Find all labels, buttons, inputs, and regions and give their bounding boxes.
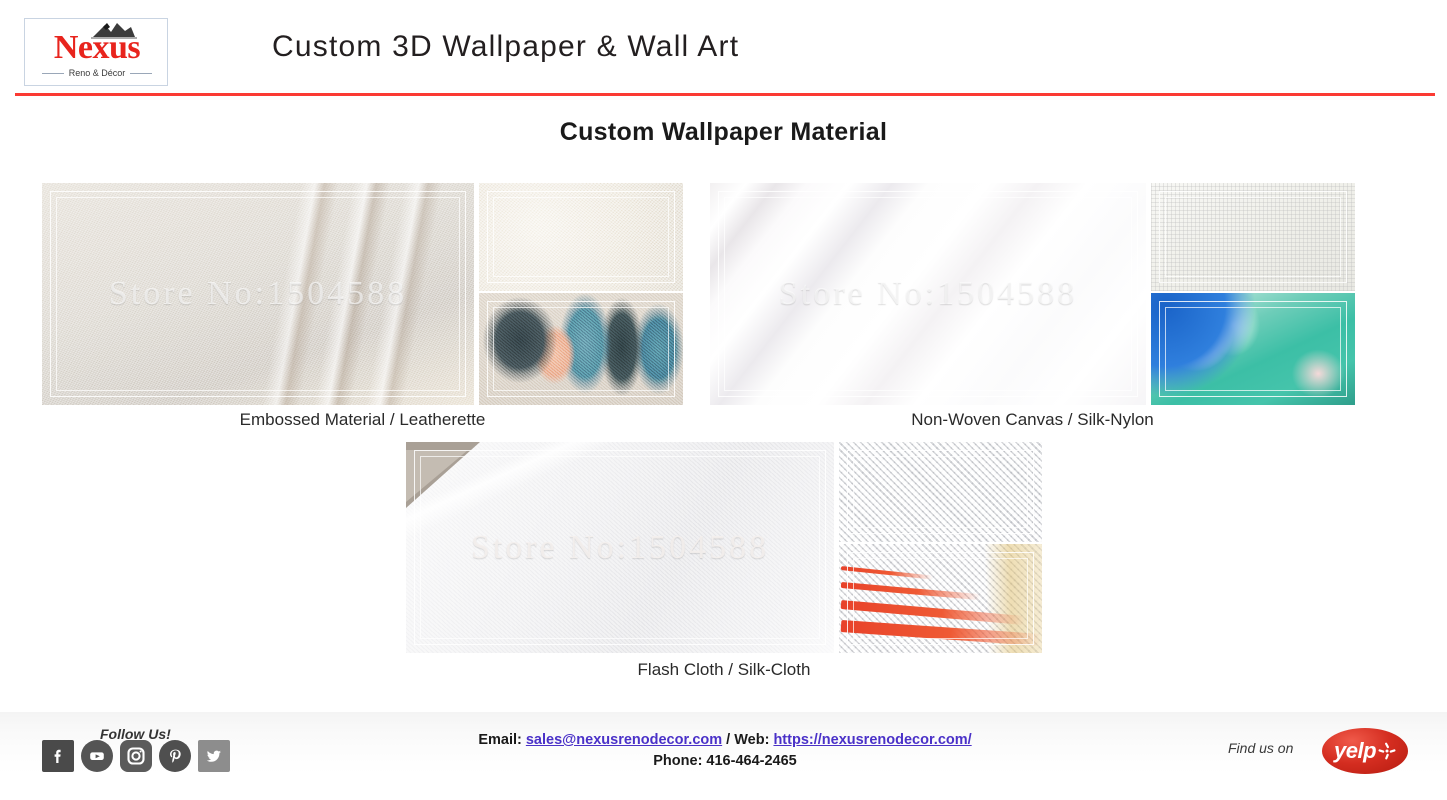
yelp-wordmark: yelp <box>1334 738 1376 764</box>
floral-silk-thumb[interactable] <box>1151 293 1355 405</box>
facebook-icon[interactable] <box>42 740 74 772</box>
email-label: Email: <box>478 732 522 748</box>
contact-separator: / <box>722 732 734 748</box>
social-links <box>42 740 230 772</box>
material-card-nonwoven[interactable]: Store No:1504588 <box>710 183 1355 405</box>
nonwoven-mesh-thumb[interactable] <box>1151 183 1355 291</box>
contact-info: Email: sales@nexusrenodecor.com / Web: h… <box>330 730 1120 772</box>
material-card-embossed[interactable]: Store No:1504588 <box>42 183 683 405</box>
rolled-wallpaper-texture <box>42 183 474 405</box>
nonwoven-weave-texture <box>1151 183 1355 291</box>
phone-number: Phone: 416-464-2465 <box>330 751 1120 772</box>
website-link[interactable]: https://nexusrenodecor.com/ <box>773 732 971 748</box>
material-caption-embossed: Embossed Material / Leatherette <box>42 410 683 430</box>
diamond-weave-texture <box>839 442 1042 542</box>
yelp-burst-icon <box>1378 742 1396 760</box>
yelp-badge[interactable]: yelp <box>1322 728 1408 774</box>
pinterest-icon[interactable] <box>159 740 191 772</box>
flashcloth-weave-thumb[interactable] <box>839 442 1042 542</box>
instagram-icon[interactable] <box>120 740 152 772</box>
teal-floral-print-texture <box>1151 293 1355 405</box>
sheet-fold-highlight <box>406 450 468 502</box>
find-us-on-label: Find us on <box>1228 740 1293 756</box>
material-caption-nonwoven: Non-Woven Canvas / Silk-Nylon <box>710 410 1355 430</box>
flashcloth-print-thumb[interactable] <box>839 544 1042 653</box>
material-caption-flashcloth: Flash Cloth / Silk-Cloth <box>406 660 1042 680</box>
embossed-closeup-texture <box>479 183 683 291</box>
web-label: Web: <box>734 732 769 748</box>
white-silk-drape-texture <box>710 183 1146 405</box>
silk-main-photo[interactable]: Store No:1504588 <box>710 183 1146 405</box>
embossed-texture-thumb[interactable] <box>479 183 683 291</box>
email-link[interactable]: sales@nexusrenodecor.com <box>526 732 722 748</box>
material-gallery: Store No:1504588 Embossed Material / Lea… <box>0 0 1447 800</box>
embossed-print-thumb[interactable] <box>479 293 683 405</box>
embossed-main-photo[interactable]: Store No:1504588 <box>42 183 474 405</box>
material-card-flashcloth[interactable]: Store No:1504588 <box>406 442 1042 653</box>
youtube-icon[interactable] <box>81 740 113 772</box>
embossed-printed-texture <box>479 293 683 405</box>
flashcloth-main-photo[interactable]: Store No:1504588 <box>406 442 834 653</box>
twitter-icon[interactable] <box>198 740 230 772</box>
